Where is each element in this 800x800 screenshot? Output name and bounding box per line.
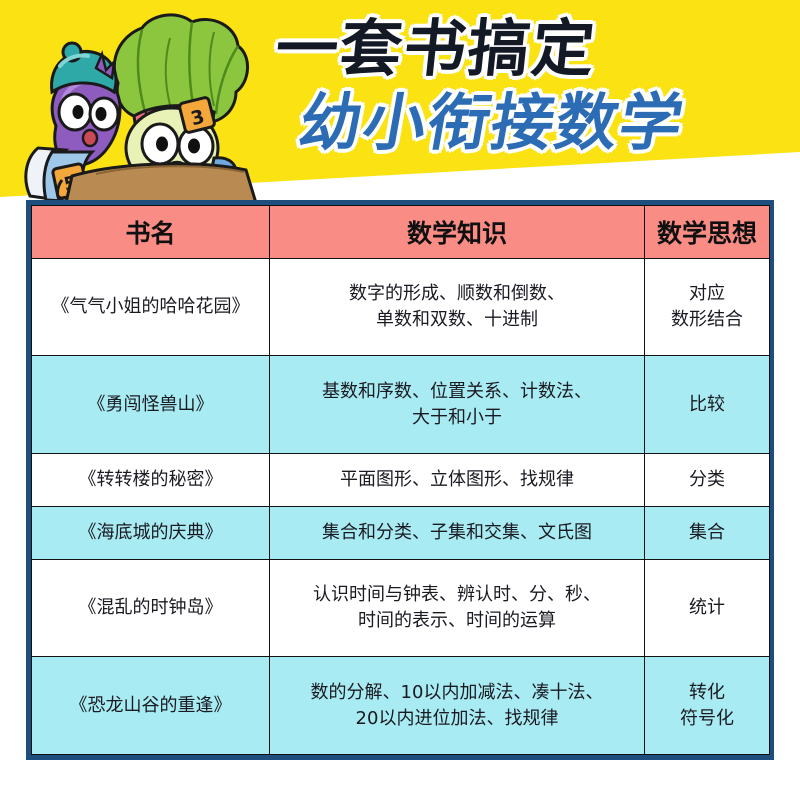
knowledge-line: 数的分解、10以内加减法、凑十法、 bbox=[274, 680, 640, 706]
cell-math-knowledge: 平面图形、立体图形、找规律 bbox=[270, 453, 645, 506]
knowledge-line: 认识时间与钟表、辨认时、分、秒、 bbox=[274, 582, 640, 608]
table-row: 《气气小姐的哈哈花园》 数字的形成、顺数和倒数、 单数和双数、十进制 对应 数形… bbox=[32, 259, 770, 356]
knowledge-line: 基数和序数、位置关系、计数法、 bbox=[274, 379, 640, 405]
table-body: 《气气小姐的哈哈花园》 数字的形成、顺数和倒数、 单数和双数、十进制 对应 数形… bbox=[32, 259, 770, 755]
knowledge-line: 平面图形、立体图形、找规律 bbox=[274, 467, 640, 493]
badge-icon-right: 3 bbox=[179, 97, 215, 133]
cell-math-thinking: 集合 bbox=[645, 506, 770, 559]
cell-math-thinking: 对应 数形结合 bbox=[645, 259, 770, 356]
table-header-row: 书名 数学知识 数学思想 bbox=[32, 206, 770, 259]
table-row: 《混乱的时钟岛》 认识时间与钟表、辨认时、分、秒、 时间的表示、时间的运算 统计 bbox=[32, 559, 770, 656]
banner-title-block: 一套书搞定 幼小衔接数学 bbox=[262, 18, 792, 154]
knowledge-line: 时间的表示、时间的运算 bbox=[274, 608, 640, 634]
cell-math-knowledge: 集合和分类、子集和交集、文氏图 bbox=[270, 506, 645, 559]
cell-book-title: 《气气小姐的哈哈花园》 bbox=[32, 259, 270, 356]
thought-line: 数形结合 bbox=[649, 307, 765, 333]
cell-book-title: 《混乱的时钟岛》 bbox=[32, 559, 270, 656]
book-curriculum-table: 书名 数学知识 数学思想 《气气小姐的哈哈花园》 数字的形成、顺数和倒数、 单数… bbox=[26, 200, 774, 760]
cell-math-thinking: 分类 bbox=[645, 453, 770, 506]
column-header-book-title: 书名 bbox=[32, 206, 270, 259]
cell-math-knowledge: 认识时间与钟表、辨认时、分、秒、 时间的表示、时间的运算 bbox=[270, 559, 645, 656]
banner-title-line-2: 幼小衔接数学 bbox=[295, 92, 798, 154]
cell-math-thinking: 统计 bbox=[645, 559, 770, 656]
knowledge-line: 20以内进位加法、找规律 bbox=[274, 706, 640, 732]
promo-banner: 3 bbox=[0, 0, 800, 200]
cell-math-knowledge: 基数和序数、位置关系、计数法、 大于和小于 bbox=[270, 356, 645, 453]
column-header-math-thinking: 数学思想 bbox=[645, 206, 770, 259]
cell-book-title: 《转转楼的秘密》 bbox=[32, 453, 270, 506]
table-row: 《勇闯怪兽山》 基数和序数、位置关系、计数法、 大于和小于 比较 bbox=[32, 356, 770, 453]
thought-line: 对应 bbox=[649, 281, 765, 307]
cell-book-title: 《海底城的庆典》 bbox=[32, 506, 270, 559]
scroll-prop bbox=[58, 164, 257, 200]
thought-line: 统计 bbox=[649, 595, 765, 621]
banner-title-line-1: 一套书搞定 bbox=[273, 18, 796, 80]
table-row: 《恐龙山谷的重逢》 数的分解、10以内加减法、凑十法、 20以内进位加法、找规律… bbox=[32, 657, 770, 755]
knowledge-line: 大于和小于 bbox=[274, 405, 640, 431]
knowledge-line: 集合和分类、子集和交集、文氏图 bbox=[274, 520, 640, 546]
cell-book-title: 《恐龙山谷的重逢》 bbox=[32, 657, 270, 755]
table-row: 《海底城的庆典》 集合和分类、子集和交集、文氏图 集合 bbox=[32, 506, 770, 559]
thought-line: 转化 bbox=[649, 680, 765, 706]
cell-book-title: 《勇闯怪兽山》 bbox=[32, 356, 270, 453]
thought-line: 集合 bbox=[649, 520, 765, 546]
column-header-math-knowledge: 数学知识 bbox=[270, 206, 645, 259]
mascot-illustration: 3 bbox=[0, 8, 270, 200]
cell-math-thinking: 比较 bbox=[645, 356, 770, 453]
table: 书名 数学知识 数学思想 《气气小姐的哈哈花园》 数字的形成、顺数和倒数、 单数… bbox=[31, 205, 770, 755]
cell-math-knowledge: 数字的形成、顺数和倒数、 单数和双数、十进制 bbox=[270, 259, 645, 356]
knowledge-line: 数字的形成、顺数和倒数、 bbox=[274, 281, 640, 307]
cell-math-knowledge: 数的分解、10以内加减法、凑十法、 20以内进位加法、找规律 bbox=[270, 657, 645, 755]
thought-line: 符号化 bbox=[649, 706, 765, 732]
table-row: 《转转楼的秘密》 平面图形、立体图形、找规律 分类 bbox=[32, 453, 770, 506]
knowledge-line: 单数和双数、十进制 bbox=[274, 307, 640, 333]
cell-math-thinking: 转化 符号化 bbox=[645, 657, 770, 755]
thought-line: 分类 bbox=[649, 467, 765, 493]
thought-line: 比较 bbox=[649, 392, 765, 418]
